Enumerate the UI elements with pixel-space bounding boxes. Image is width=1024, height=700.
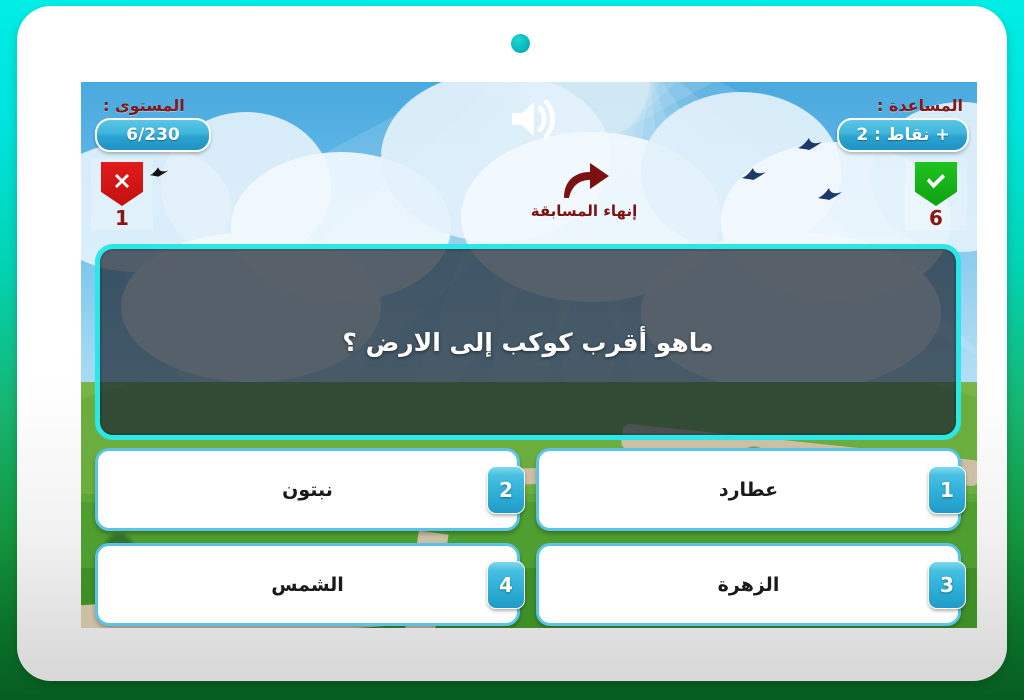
hud: المستوى : 6/230 1 المساعدة : + نقاط : 2 — [81, 82, 977, 242]
page-background: المستوى : 6/230 1 المساعدة : + نقاط : 2 — [0, 0, 1024, 700]
answer-label: الزهرة — [718, 574, 780, 596]
help-points-badge[interactable]: + نقاط : 2 — [837, 118, 969, 152]
game-screen: المستوى : 6/230 1 المساعدة : + نقاط : 2 — [81, 82, 977, 628]
curved-arrow-icon — [556, 160, 612, 200]
answer-number-badge: 2 — [487, 466, 525, 514]
level-badge: 6/230 — [95, 118, 211, 152]
level-label: المستوى : — [103, 96, 185, 115]
wrong-answers-count: 1 — [91, 206, 153, 230]
end-quiz-label: إنهاء المسابقة — [469, 202, 699, 220]
correct-answers-count: 6 — [905, 206, 967, 230]
answer-label: الشمس — [271, 574, 344, 596]
correct-answers-box: 6 — [905, 158, 967, 230]
check-mark-icon — [915, 162, 957, 206]
answer-number-badge: 3 — [928, 561, 966, 609]
camera-dot — [511, 34, 530, 53]
answers-grid: عطارد 1 نبتون 2 الزهرة 3 الشمس 4 — [95, 448, 961, 626]
x-mark-icon — [101, 162, 143, 206]
answer-number-badge: 4 — [487, 561, 525, 609]
answer-option-2[interactable]: نبتون 2 — [95, 448, 520, 531]
question-text: ماهو أقرب كوكب إلى الارض ؟ — [314, 328, 741, 357]
end-quiz-button[interactable]: إنهاء المسابقة — [469, 160, 699, 220]
question-panel: ماهو أقرب كوكب إلى الارض ؟ — [95, 244, 961, 440]
answer-label: نبتون — [282, 479, 333, 501]
answer-number-badge: 1 — [928, 466, 966, 514]
wrong-answers-box: 1 — [91, 158, 153, 230]
tablet-device-frame: المستوى : 6/230 1 المساعدة : + نقاط : 2 — [17, 6, 1007, 681]
answer-label: عطارد — [719, 479, 778, 501]
answer-option-3[interactable]: الزهرة 3 — [536, 543, 961, 626]
help-label: المساعدة : — [877, 96, 963, 115]
answer-option-4[interactable]: الشمس 4 — [95, 543, 520, 626]
speaker-on-icon[interactable] — [506, 96, 562, 142]
answer-option-1[interactable]: عطارد 1 — [536, 448, 961, 531]
